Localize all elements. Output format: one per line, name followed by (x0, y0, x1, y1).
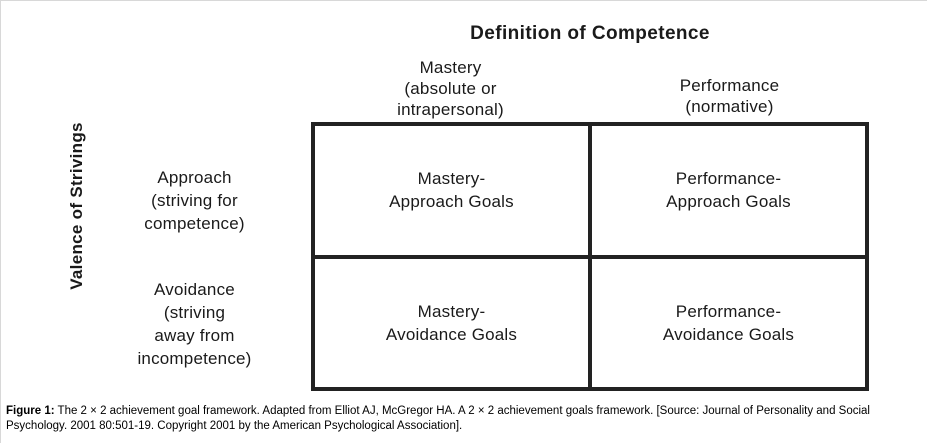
row-label-avoidance: Avoidance (striving away from incompeten… (91, 278, 298, 370)
column-header-performance: Performance (normative) (590, 75, 869, 117)
cell-mastery-avoidance: Mastery- Avoidance Goals (315, 257, 590, 388)
figure-caption: Figure 1: The 2 × 2 achievement goal fra… (6, 404, 922, 434)
figure-caption-text: The 2 × 2 achievement goal framework. Ad… (6, 405, 870, 432)
cell-mastery-approach: Mastery- Approach Goals (315, 126, 590, 257)
cell-performance-avoidance: Performance- Avoidance Goals (590, 257, 865, 388)
cell-performance-approach: Performance- Approach Goals (590, 126, 865, 257)
column-header-mastery: Mastery (absolute or intrapersonal) (311, 57, 590, 120)
figure-caption-label: Figure 1: (6, 405, 55, 417)
axis-label-valence-of-strivings: Valence of Strivings (67, 106, 87, 306)
figure-page: Definition of Competence Mastery (absolu… (0, 0, 927, 443)
achievement-goal-matrix: Mastery- Approach Goals Performance- App… (311, 122, 869, 391)
row-label-approach: Approach (striving for competence) (91, 166, 298, 235)
figure-title: Definition of Competence (311, 23, 869, 45)
